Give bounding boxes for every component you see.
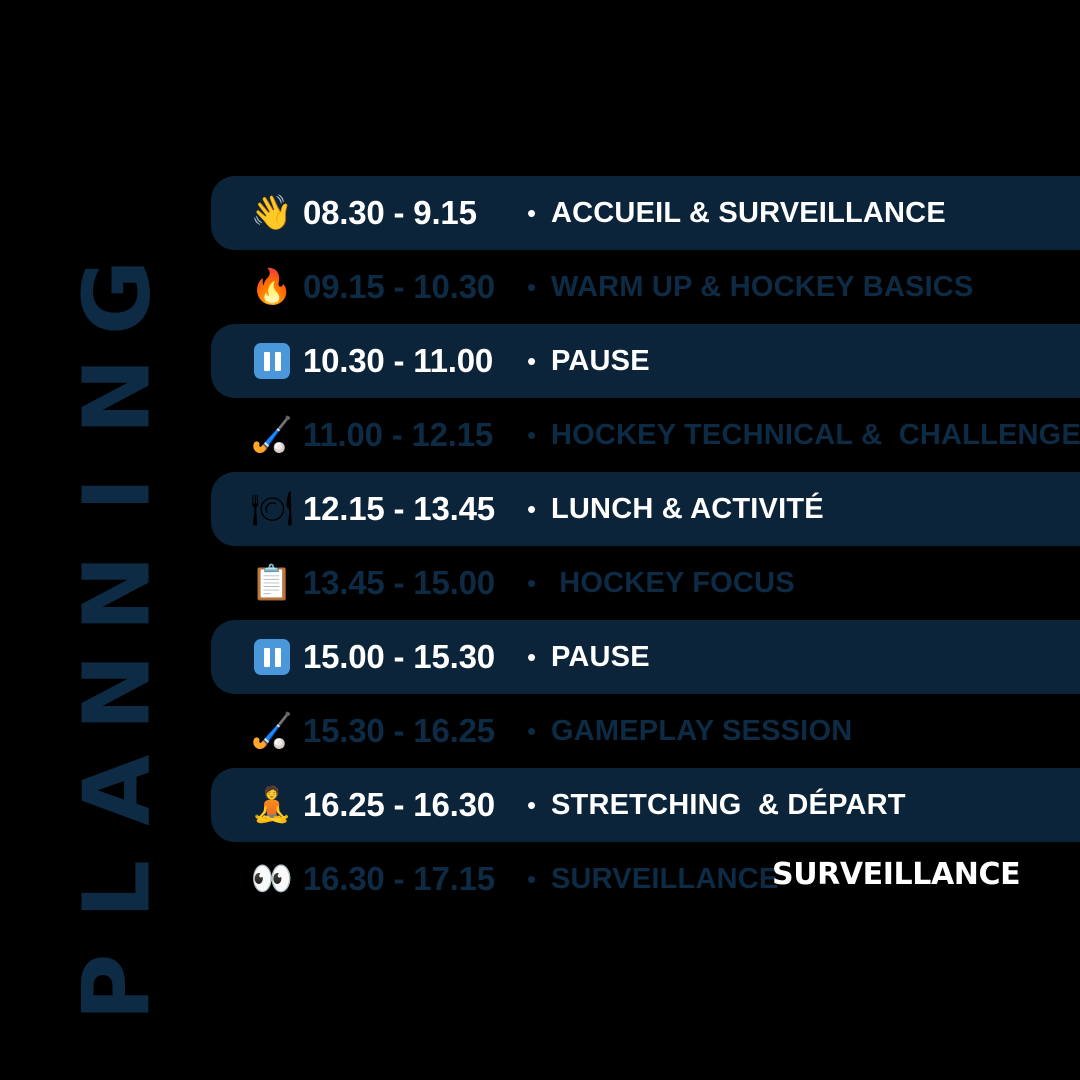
schedule-row-label: WARM UP & HOCKEY BASICS (551, 271, 973, 304)
page-title: PLANNING (58, 40, 178, 1030)
field-hockey-icon: 🏑 (241, 418, 303, 452)
schedule-row[interactable]: 🧘16.25 - 16.30•STRETCHING & DÉPART (211, 768, 1080, 842)
schedule-row[interactable]: 15.00 - 15.30•PAUSE (211, 620, 1080, 694)
pause-icon (241, 343, 303, 379)
page-title-letter: G (76, 247, 161, 347)
schedule-row-label: HOCKEY TECHNICAL & CHALLENGE (551, 419, 1080, 452)
schedule-row[interactable]: 10.30 - 11.00•PAUSE (211, 324, 1080, 398)
schedule-row-label: PAUSE (551, 345, 650, 378)
schedule-row[interactable]: 🍽12.15 - 13.45•LUNCH & ACTIVITÉ (211, 472, 1080, 546)
schedule-row-bullet: • (527, 348, 551, 374)
schedule-row-label: ACCUEIL & SURVEILLANCE (551, 197, 946, 230)
schedule-row-bullet: • (527, 422, 551, 448)
schedule-row-bullet: • (527, 792, 551, 818)
schedule-row-time: 15.00 - 15.30 (303, 638, 527, 676)
page-title-letter: I (76, 445, 161, 545)
schedule-row[interactable]: 👋08.30 - 9.15•ACCUEIL & SURVEILLANCE (211, 176, 1080, 250)
schedule-row-bullet: • (527, 644, 551, 670)
schedule-row-label: STRETCHING & DÉPART (551, 789, 906, 822)
schedule-row-time: 09.15 - 10.30 (303, 268, 527, 306)
schedule-row[interactable]: 🏑11.00 - 12.15•HOCKEY TECHNICAL & CHALLE… (211, 398, 1080, 472)
schedule-row-time: 16.25 - 16.30 (303, 786, 527, 824)
schedule-row-label: HOCKEY FOCUS (551, 567, 795, 600)
schedule-row-time: 11.00 - 12.15 (303, 416, 527, 454)
schedule-row-time: 15.30 - 16.25 (303, 712, 527, 750)
eyes-icon: 👀 (241, 862, 303, 896)
page-title-letter: P (76, 938, 161, 1038)
pause-icon (241, 639, 303, 675)
page-title-letter: N (76, 543, 161, 643)
schedule-row-label: PAUSE (551, 641, 650, 674)
schedule-row-bullet: • (527, 866, 551, 892)
schedule-row-time: 13.45 - 15.00 (303, 564, 527, 602)
page-title-letter: A (76, 740, 161, 840)
schedule-row-bullet: • (527, 200, 551, 226)
schedule-list: 👋08.30 - 9.15•ACCUEIL & SURVEILLANCE🔥09.… (211, 176, 1080, 916)
schedule-row-time: 08.30 - 9.15 (303, 194, 527, 232)
clipboard-icon: 📋 (241, 566, 303, 600)
page-title-letter: N (76, 642, 161, 742)
schedule-row-bullet: • (527, 274, 551, 300)
schedule-row-time: 16.30 - 17.15 (303, 860, 527, 898)
schedule-row[interactable]: 🏑15.30 - 16.25•GAMEPLAY SESSION (211, 694, 1080, 768)
overlay-surveillance-label: SURVEILLANCE (772, 857, 1020, 892)
schedule-row-label: LUNCH & ACTIVITÉ (551, 493, 824, 526)
page-title-letter: N (76, 346, 161, 446)
fork-and-knife-with-plate-icon: 🍽 (241, 492, 303, 526)
waving-hand-icon: 👋 (241, 196, 303, 230)
schedule-row-label: GAMEPLAY SESSION (551, 715, 852, 748)
fire-icon: 🔥 (241, 270, 303, 304)
schedule-row-label: SURVEILLANCE (551, 863, 778, 896)
page-title-letter: L (76, 839, 161, 939)
planning-poster: PLANNING 👋08.30 - 9.15•ACCUEIL & SURVEIL… (0, 0, 1080, 1080)
schedule-row-time: 12.15 - 13.45 (303, 490, 527, 528)
schedule-row-bullet: • (527, 496, 551, 522)
field-hockey-icon: 🏑 (241, 714, 303, 748)
person-in-lotus-position-icon: 🧘 (241, 788, 303, 822)
schedule-row[interactable]: 📋13.45 - 15.00• HOCKEY FOCUS (211, 546, 1080, 620)
schedule-row-bullet: • (527, 718, 551, 744)
schedule-row-bullet: • (527, 570, 551, 596)
schedule-row-time: 10.30 - 11.00 (303, 342, 527, 380)
schedule-row[interactable]: 🔥09.15 - 10.30•WARM UP & HOCKEY BASICS (211, 250, 1080, 324)
